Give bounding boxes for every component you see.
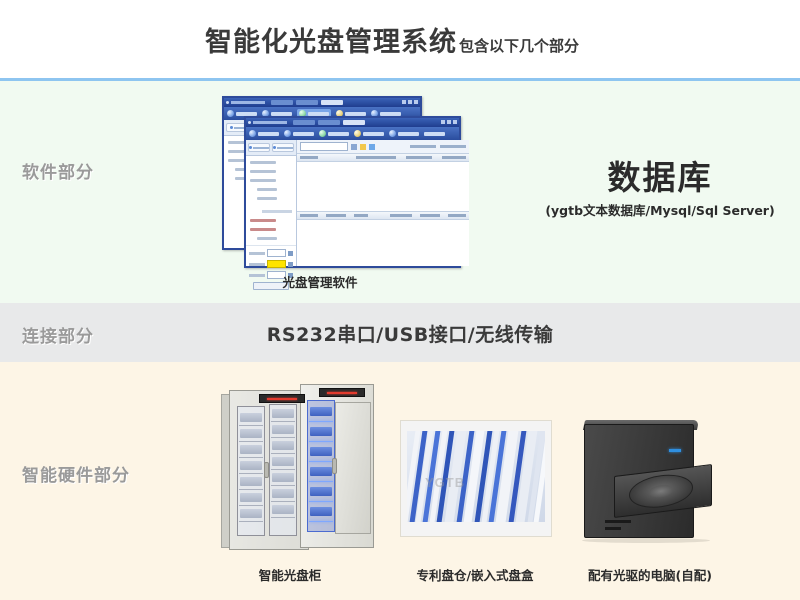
window-controls-front[interactable] <box>441 120 457 124</box>
tab-item[interactable] <box>318 120 340 125</box>
window-controls-back[interactable] <box>402 100 418 104</box>
database-block: 数据库 (ygtb文本数据库/Mysql/Sql Server) <box>520 160 800 219</box>
toolbar-button[interactable] <box>319 130 349 137</box>
computer-with-optical-drive-image <box>572 418 722 543</box>
disc-magazine-image: YGTB <box>400 420 552 537</box>
picker-icon[interactable] <box>288 251 293 256</box>
close-icon[interactable] <box>453 120 457 124</box>
export-icon[interactable] <box>369 144 375 150</box>
sidebar-tree-front[interactable] <box>246 156 296 245</box>
page-header: 智能化光盘管理系统 包含以下几个部分 <box>0 0 800 78</box>
band-label-software: 软件部分 <box>22 158 94 183</box>
highlighted-input[interactable] <box>267 260 286 268</box>
maximize-icon[interactable] <box>447 120 451 124</box>
cabinet-handle <box>264 462 269 478</box>
tree-item-alert[interactable] <box>250 219 276 222</box>
cabinet-solid-door <box>335 402 371 534</box>
status-text-group <box>410 145 466 148</box>
tree-item[interactable] <box>257 237 277 240</box>
caption-pc: 配有光驱的电脑(自配) <box>555 565 745 584</box>
disc-cabinet-image <box>215 380 385 555</box>
form-row-highlighted[interactable] <box>249 260 293 268</box>
magazine-watermark: YGTB <box>425 475 465 490</box>
window-tabs-front[interactable] <box>293 120 365 125</box>
toolbar-front[interactable] <box>246 127 459 140</box>
tab-item[interactable] <box>293 120 315 125</box>
disc-platter <box>629 471 693 511</box>
cabinet-handle <box>332 458 337 474</box>
tree-item-alert[interactable] <box>250 228 276 231</box>
poster-root: 智能化光盘管理系统 包含以下几个部分 软件部分 <box>0 0 800 600</box>
list-header-front <box>297 154 469 162</box>
cabinet-glass-door-2 <box>269 404 297 536</box>
database-subtitle: (ygtb文本数据库/Mysql/Sql Server) <box>520 200 800 219</box>
pc-front-slot <box>605 527 621 530</box>
detail-header <box>297 212 469 220</box>
toolbar-button[interactable] <box>424 132 445 136</box>
platter-hub <box>649 484 673 499</box>
pc-power-led <box>669 449 681 452</box>
toolbar-button[interactable] <box>389 130 419 137</box>
sidebar-tabs-front[interactable] <box>246 140 296 156</box>
window-title-placeholder <box>231 101 265 104</box>
detail-grid[interactable] <box>297 220 469 266</box>
toolbar-button[interactable] <box>284 130 314 137</box>
window-tabs-back[interactable] <box>271 100 343 105</box>
picker-icon[interactable] <box>288 262 293 267</box>
band-label-hardware: 智能硬件部分 <box>22 461 130 486</box>
cabinet-led-display-left <box>259 394 305 403</box>
tab-item[interactable] <box>271 100 293 105</box>
tree-item[interactable] <box>250 161 276 164</box>
minimize-icon[interactable] <box>402 100 406 104</box>
cabinet-glass-door-lit <box>307 400 335 532</box>
toolbar-button[interactable] <box>249 130 279 137</box>
tab-item[interactable] <box>296 100 318 105</box>
caption-magazine: 专利盘仓/嵌入式盘盒 <box>390 565 560 584</box>
tree-item[interactable] <box>257 197 277 200</box>
app-window-front[interactable] <box>244 116 461 268</box>
tree-note <box>262 210 292 213</box>
app-icon <box>248 121 251 124</box>
page-title: 智能化光盘管理系统 <box>205 20 457 59</box>
search-input[interactable] <box>300 142 348 151</box>
maximize-icon[interactable] <box>408 100 412 104</box>
tree-item[interactable] <box>250 179 276 182</box>
pc-front-slot <box>605 520 631 523</box>
form-row[interactable] <box>249 249 293 257</box>
list-grid-front[interactable] <box>297 162 469 212</box>
caption-cabinet: 智能光盘柜 <box>205 565 375 584</box>
window-title-placeholder <box>253 121 287 124</box>
window-titlebar-front <box>246 118 459 127</box>
sidebar-front <box>246 140 297 266</box>
database-title: 数据库 <box>520 160 800 196</box>
tab-item-selected[interactable] <box>321 100 343 105</box>
minimize-icon[interactable] <box>441 120 445 124</box>
connection-text: RS232串口/USB接口/无线传输 <box>200 320 620 347</box>
search-bar-front[interactable] <box>297 140 469 154</box>
app-icon <box>226 101 229 104</box>
caption-software: 光盘管理软件 <box>240 272 400 291</box>
cabinet-led-display-right <box>319 388 365 397</box>
close-icon[interactable] <box>414 100 418 104</box>
band-label-connection: 连接部分 <box>22 322 94 347</box>
window-titlebar-back <box>224 98 420 107</box>
sidebar-tab[interactable] <box>272 143 294 152</box>
content-pane-front <box>297 140 469 266</box>
software-screenshot-group <box>222 96 462 266</box>
window-body-front <box>246 140 459 266</box>
toolbar-button[interactable] <box>354 130 384 137</box>
search-icon[interactable] <box>351 144 357 150</box>
page-subtitle: 包含以下几个部分 <box>459 35 579 56</box>
cabinet-glass-door-1 <box>237 406 265 536</box>
folder-icon[interactable] <box>360 144 366 150</box>
tree-item[interactable] <box>250 170 276 173</box>
tab-item-selected[interactable] <box>343 120 365 125</box>
sidebar-tab[interactable] <box>248 143 270 152</box>
magazine-photo: YGTB <box>407 431 545 522</box>
tree-item[interactable] <box>257 188 277 191</box>
